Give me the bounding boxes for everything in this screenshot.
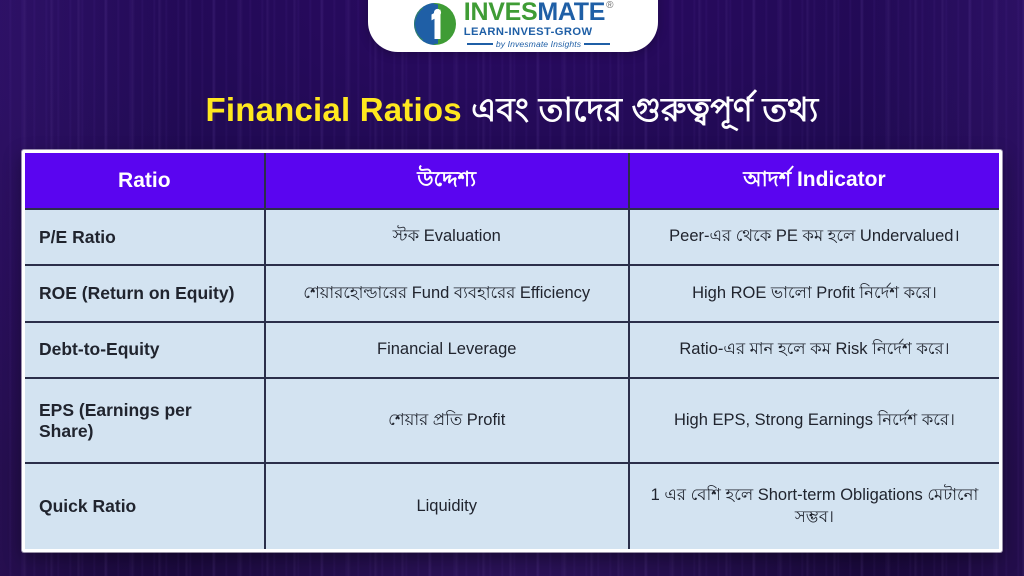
cell-purpose: Liquidity (265, 463, 629, 549)
brand-logo: INVESMATE® LEARN-INVEST-GROW by Invesmat… (413, 0, 613, 48)
page-title: Financial Ratios এবং তাদের গুরুত্বপূর্ণ … (0, 84, 1024, 140)
invesmate-circle-i-logo-icon (413, 2, 457, 46)
cell-ratio: EPS (Earnings per Share) (25, 378, 265, 463)
brand-byline-wrap: by Invesmate Insights (464, 40, 613, 49)
registered-mark-icon: ® (606, 1, 613, 11)
table-header-row: Ratio উদ্দেশ্য আদর্শ Indicator (25, 153, 999, 209)
column-header-purpose: উদ্দেশ্য (265, 153, 629, 209)
cell-ratio: P/E Ratio (25, 209, 265, 265)
brand-tagline: LEARN-INVEST-GROW (464, 27, 613, 38)
column-header-indicator: আদর্শ Indicator (629, 153, 999, 209)
table-row: ROE (Return on Equity) শেয়ারহোল্ডারের F… (25, 265, 999, 321)
table-row: EPS (Earnings per Share) শেয়ার প্রতি Pr… (25, 378, 999, 463)
cell-indicator: 1 এর বেশি হলে Short-term Obligations মেট… (629, 463, 999, 549)
page-title-bengali: এবং তাদের গুরুত্বপূর্ণ তথ্য (471, 91, 818, 128)
cell-indicator: Peer-এর থেকে PE কম হলে Undervalued। (629, 209, 999, 265)
cell-purpose: Financial Leverage (265, 322, 629, 378)
table-row: Debt-to-Equity Financial Leverage Ratio-… (25, 322, 999, 378)
cell-purpose: শেয়ার প্রতি Profit (265, 378, 629, 463)
cell-indicator: Ratio-এর মান হলে কম Risk নির্দেশ করে। (629, 322, 999, 378)
column-header-ratio: Ratio (25, 153, 265, 209)
ratios-table-container: Ratio উদ্দেশ্য আদর্শ Indicator P/E Ratio… (22, 150, 1002, 552)
byline-rule-right (584, 43, 610, 44)
cell-purpose: শেয়ারহোল্ডারের Fund ব্যবহারের Efficienc… (265, 265, 629, 321)
cell-indicator: High EPS, Strong Earnings নির্দেশ করে। (629, 378, 999, 463)
page-title-english: Financial Ratios (205, 91, 461, 128)
cell-ratio: ROE (Return on Equity) (25, 265, 265, 321)
table-row: P/E Ratio স্টক Evaluation Peer-এর থেকে P… (25, 209, 999, 265)
poster-canvas: INVESMATE® LEARN-INVEST-GROW by Invesmat… (0, 0, 1024, 576)
cell-purpose: স্টক Evaluation (265, 209, 629, 265)
byline-rule-left (467, 43, 493, 44)
cell-indicator: High ROE ভালো Profit নির্দেশ করে। (629, 265, 999, 321)
ratios-table: Ratio উদ্দেশ্য আদর্শ Indicator P/E Ratio… (25, 153, 999, 549)
brand-name-part2: MATE (537, 0, 605, 25)
brand-logo-text: INVESMATE® LEARN-INVEST-GROW by Invesmat… (464, 0, 613, 48)
brand-byline: by Invesmate Insights (496, 40, 581, 49)
brand-wordmark: INVESMATE® (464, 0, 613, 25)
brand-name-part1: INVES (464, 0, 538, 25)
cell-ratio: Debt-to-Equity (25, 322, 265, 378)
brand-logo-plate: INVESMATE® LEARN-INVEST-GROW by Invesmat… (368, 0, 658, 52)
cell-ratio: Quick Ratio (25, 463, 265, 549)
table-row: Quick Ratio Liquidity 1 এর বেশি হলে Shor… (25, 463, 999, 549)
